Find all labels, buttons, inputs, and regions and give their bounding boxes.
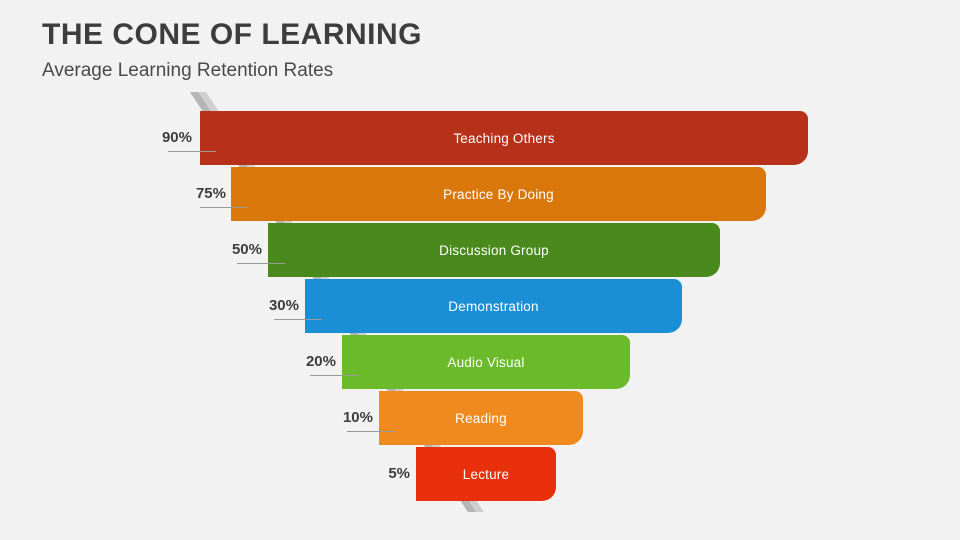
bar-label-reading: Reading — [455, 411, 507, 426]
leader-line-discussion-group — [237, 263, 285, 264]
bar-value-demonstration: 30% — [243, 297, 299, 314]
bar-value-discussion-group: 50% — [206, 241, 262, 258]
leader-line-reading — [347, 431, 395, 432]
bar-label-discussion-group: Discussion Group — [439, 243, 549, 258]
bar-label-practice-by-doing: Practice By Doing — [443, 187, 554, 202]
bar-value-audio-visual: 20% — [280, 353, 336, 370]
page-subtitle: Average Learning Retention Rates — [42, 60, 333, 82]
bar-lecture[interactable]: Lecture — [416, 447, 556, 501]
bar-discussion-group[interactable]: Discussion Group — [268, 223, 720, 277]
leader-line-demonstration — [274, 319, 322, 320]
bar-value-reading: 10% — [317, 409, 373, 426]
bar-teaching-others[interactable]: Teaching Others — [200, 111, 808, 165]
leader-line-teaching-others — [168, 151, 216, 152]
bar-value-teaching-others: 90% — [136, 129, 192, 146]
bar-label-teaching-others: Teaching Others — [453, 131, 554, 146]
bar-label-lecture: Lecture — [463, 467, 509, 482]
cone-of-learning-chart: The Cone of Learning Average Learning Re… — [0, 0, 960, 540]
leader-line-practice-by-doing — [200, 207, 248, 208]
bar-label-demonstration: Demonstration — [448, 299, 538, 314]
page-title: The Cone of Learning — [42, 18, 422, 52]
bar-demonstration[interactable]: Demonstration — [305, 279, 682, 333]
bar-practice-by-doing[interactable]: Practice By Doing — [231, 167, 766, 221]
bar-label-audio-visual: Audio Visual — [447, 355, 524, 370]
bar-audio-visual[interactable]: Audio Visual — [342, 335, 630, 389]
bar-value-practice-by-doing: 75% — [170, 185, 226, 202]
bar-reading[interactable]: Reading — [379, 391, 583, 445]
bar-value-lecture: 5% — [354, 465, 410, 482]
leader-line-audio-visual — [310, 375, 358, 376]
